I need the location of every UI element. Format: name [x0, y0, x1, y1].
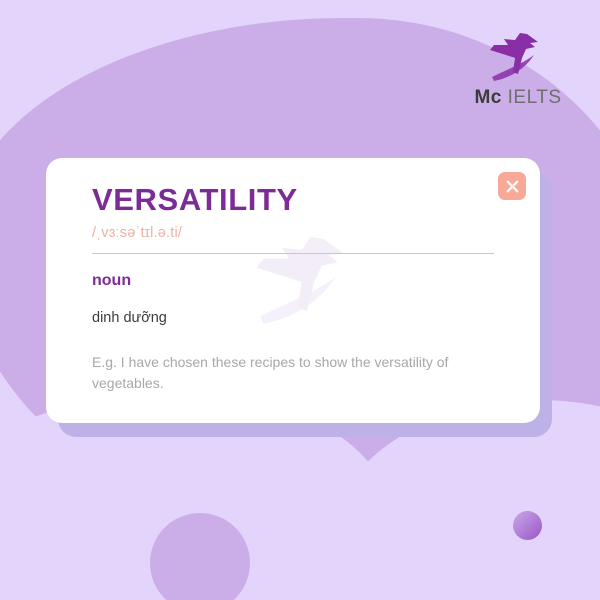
brand-name-bold: Mc — [474, 87, 501, 108]
close-icon — [506, 180, 519, 193]
brand-logo: Mc IELTS — [468, 28, 568, 107]
brand-name: Mc IELTS — [468, 88, 568, 107]
word-title: VERSATILITY — [92, 184, 506, 217]
example-sentence: E.g. I have chosen these recipes to show… — [92, 352, 482, 395]
word-meaning: dinh dưỡng — [92, 310, 506, 326]
phonetic-transcription: /ˌvɜːsəˈtɪl.ə.ti/ — [92, 225, 506, 241]
vocabulary-card-screen: Mc IELTS VERSATILITY /ˌvɜːsəˈtɪl.ə.ti/ n… — [0, 0, 600, 600]
close-button[interactable] — [498, 172, 526, 200]
accent-dot — [513, 511, 542, 540]
hummingbird-icon — [482, 28, 554, 84]
brand-name-light: IELTS — [508, 87, 562, 108]
definition-card: VERSATILITY /ˌvɜːsəˈtɪl.ə.ti/ noun dinh … — [46, 158, 540, 423]
card-content: VERSATILITY /ˌvɜːsəˈtɪl.ə.ti/ noun dinh … — [46, 158, 540, 395]
divider — [92, 253, 494, 254]
part-of-speech: noun — [92, 272, 506, 290]
